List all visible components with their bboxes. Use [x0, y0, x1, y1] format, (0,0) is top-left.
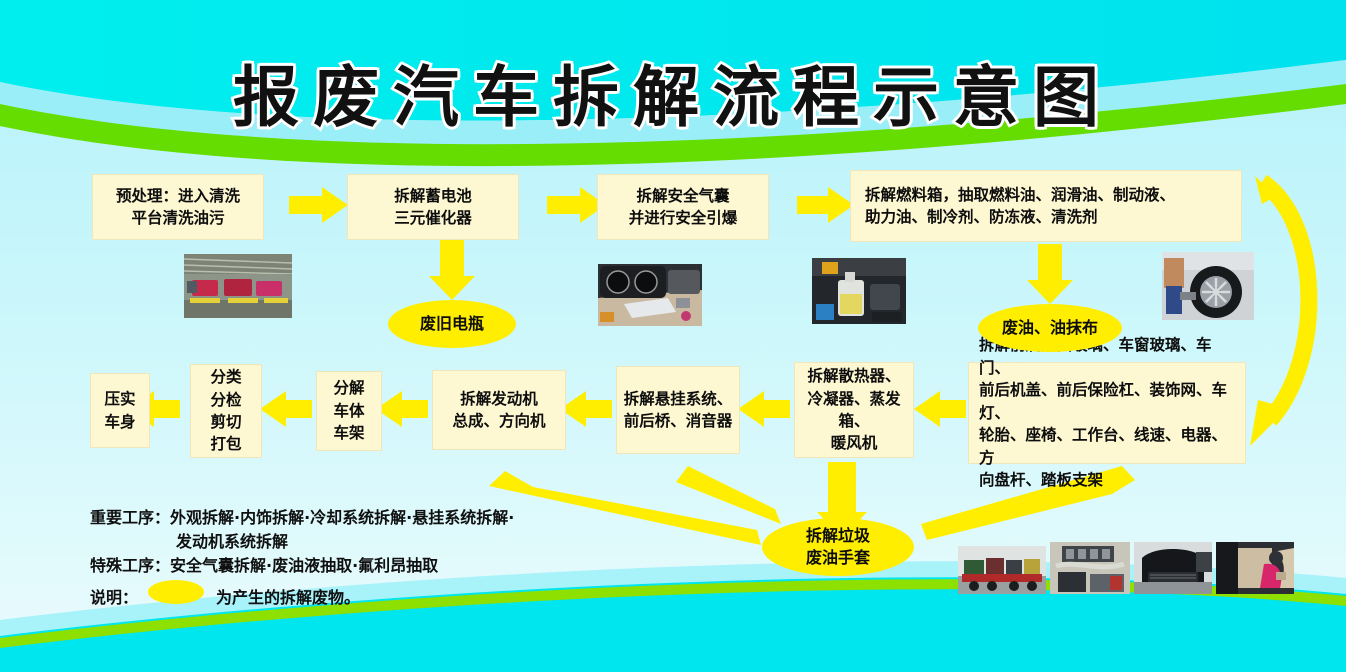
flow-text: 平台清洗油污	[131, 209, 224, 227]
flow-text: 暖风机	[831, 434, 878, 452]
arrow-bodyparts-to-radiator	[914, 391, 966, 427]
note-text: 发动机系统拆解	[176, 532, 288, 551]
flow-text: 分类	[210, 368, 241, 386]
photo-interior	[1216, 542, 1294, 594]
flow-text: 并进行安全引爆	[629, 209, 738, 227]
photo-fluid	[812, 258, 906, 324]
flow-text: 预处理：进入清洗	[116, 187, 240, 205]
waste-oval-battery[interactable]: 废旧电瓶	[388, 300, 516, 348]
waste-label: 废油手套	[806, 548, 870, 567]
flow-box-body-parts[interactable]: 拆解前后风挡玻璃、车窗玻璃、车门、 前后机盖、前后保险杠、装饰网、车灯、 轮胎、…	[968, 362, 1246, 464]
flow-text: 分解	[333, 379, 364, 397]
note-text: 为产生的拆解废物。	[216, 588, 360, 607]
flow-text: 车体	[333, 402, 364, 420]
flow-text: 拆解蓄电池	[394, 187, 472, 205]
note-label: 说明：	[90, 588, 138, 607]
flow-box-fluids[interactable]: 拆解燃料箱，抽取燃料油、润滑油、制动液、 助力油、制冷剂、防冻液、清洗剂	[850, 170, 1242, 242]
photo-dashboard	[598, 264, 702, 326]
waste-label: 废旧电瓶	[420, 313, 484, 335]
flow-box-compact[interactable]: 压实 车身	[90, 373, 150, 448]
flow-text: 前后机盖、前后保险杠、装饰网、车灯、	[979, 381, 1227, 421]
note-legend-text: 为产生的拆解废物。	[216, 584, 360, 608]
arrow-airbag-to-fluids	[797, 187, 854, 223]
flow-text: 前后桥、消音器	[624, 412, 733, 430]
note-key-process-line2: 发动机系统拆解	[176, 528, 288, 552]
flow-text: 打包	[210, 435, 241, 453]
arrow-suspension-to-engine	[560, 391, 612, 427]
note-key-process: 重要工序：外观拆解·内饰拆解·冷却系统拆解·悬挂系统拆解·	[90, 504, 514, 528]
flow-text: 拆解散热器、	[807, 367, 900, 385]
flow-text: 总成、方向机	[452, 412, 545, 430]
waste-label: 拆解垃圾	[806, 526, 870, 545]
flow-text: 向盘杆、踏板支架	[979, 471, 1103, 489]
flow-text: 轮胎、座椅、工作台、线速、电器、方	[979, 426, 1227, 466]
photo-engine	[1050, 542, 1130, 594]
photo-truck	[958, 546, 1046, 594]
flow-text: 拆解燃料箱，抽取燃料油、润滑油、制动液、	[865, 186, 1175, 204]
note-label: 重要工序：	[90, 508, 170, 527]
flow-box-sort[interactable]: 分类 分检 剪切 打包	[190, 364, 262, 458]
waste-oval-oil[interactable]: 废油、油抹布	[978, 304, 1122, 352]
flow-box-engine[interactable]: 拆解发动机 总成、方向机	[432, 370, 566, 450]
arrow-fluids-to-oilwaste	[1027, 244, 1073, 304]
arrow-radiator-to-suspension	[738, 391, 790, 427]
flow-text: 剪切	[210, 413, 241, 431]
flow-box-airbag[interactable]: 拆解安全气囊 并进行安全引爆	[597, 174, 769, 240]
note-text: 安全气囊拆解·废油液抽取·氟利昂抽取	[170, 556, 438, 575]
waste-oval-trash[interactable]: 拆解垃圾 废油手套	[762, 518, 914, 576]
flow-box-battery[interactable]: 拆解蓄电池 三元催化器	[347, 174, 519, 240]
flow-text: 助力油、制冷剂、防冻液、清洗剂	[865, 208, 1098, 226]
note-special-process: 特殊工序：安全气囊拆解·废油液抽取·氟利昂抽取	[90, 552, 438, 576]
flow-text: 拆解安全气囊	[636, 187, 729, 205]
arrow-battery-to-waste	[429, 240, 475, 300]
note-legend: 说明：	[90, 584, 138, 608]
arrow-frame-to-sort	[260, 391, 312, 427]
flow-text: 三元催化器	[394, 209, 472, 227]
arrow-curved-right	[1250, 176, 1309, 446]
note-text: 外观拆解·内饰拆解·冷却系统拆解·悬挂系统拆解·	[170, 508, 514, 527]
flow-text: 拆解发动机	[460, 390, 538, 408]
flow-text: 车身	[104, 413, 135, 431]
arrow-suspension-to-trash	[676, 466, 781, 524]
arrow-engine-to-frame	[376, 391, 428, 427]
flow-box-radiator[interactable]: 拆解散热器、 冷凝器、蒸发箱、 暖风机	[794, 362, 914, 458]
flow-text: 压实	[104, 390, 135, 408]
photo-front	[1134, 542, 1212, 594]
waste-label: 废油、油抹布	[1002, 317, 1098, 339]
arrow-pretreat-to-battery	[289, 187, 348, 223]
flow-text: 分检	[210, 391, 241, 409]
flow-text: 拆解悬挂系统、	[624, 390, 733, 408]
flow-text: 车架	[333, 424, 364, 442]
legend-swatch	[148, 580, 204, 604]
page-title: 报废汽车拆解流程示意图	[0, 44, 1346, 140]
flow-box-suspension[interactable]: 拆解悬挂系统、 前后桥、消音器	[616, 366, 740, 454]
flow-box-frame[interactable]: 分解 车体 车架	[316, 371, 382, 451]
flow-text: 冷凝器、蒸发箱、	[807, 390, 900, 430]
poster-canvas: 报废汽车拆解流程示意图	[0, 0, 1346, 672]
photo-wheel	[1162, 252, 1254, 320]
note-label: 特殊工序：	[90, 556, 170, 575]
flow-box-pretreat[interactable]: 预处理：进入清洗 平台清洗油污	[92, 174, 264, 240]
photo-workshop	[184, 254, 292, 318]
